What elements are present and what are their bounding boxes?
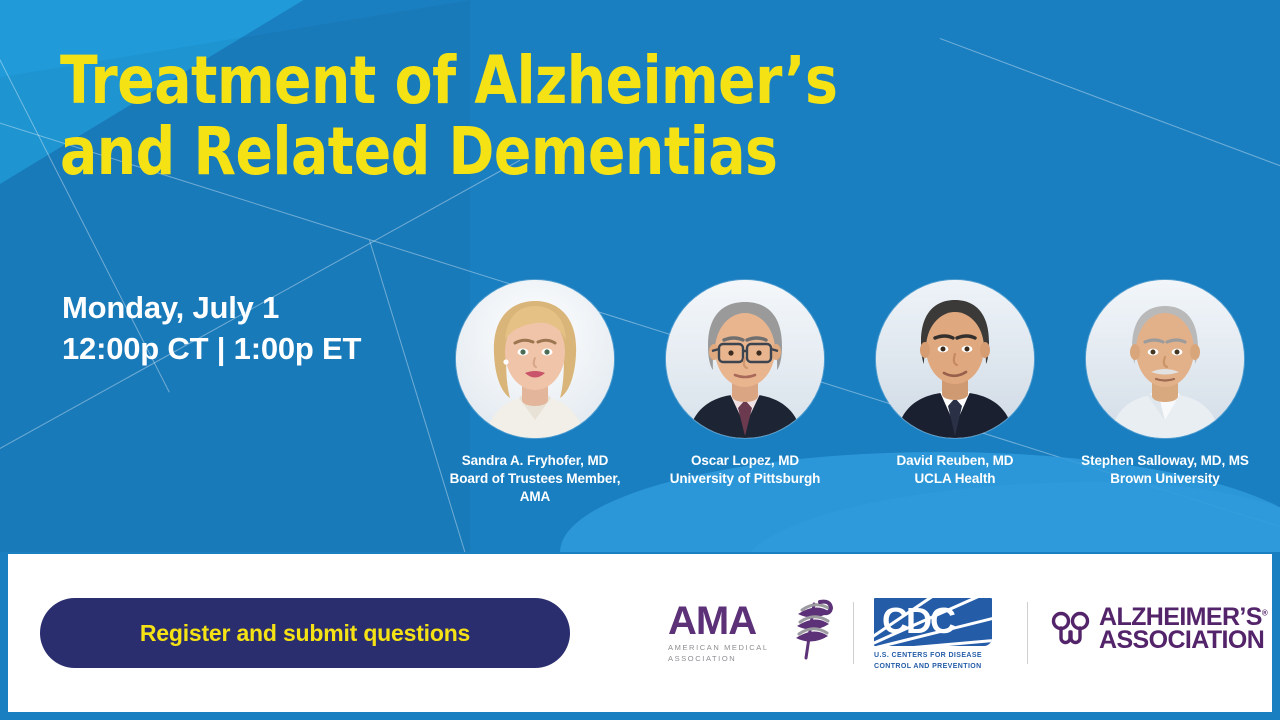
alzheimers-association-logo[interactable]: ALZHEIMER’S® ASSOCIATION xyxy=(1050,606,1268,652)
avatar xyxy=(1086,280,1244,438)
hero-banner: Treatment of Alzheimer’s and Related Dem… xyxy=(0,0,1280,552)
register-button-label: Register and submit questions xyxy=(140,620,470,647)
speaker-card: Stephen Salloway, MD, MS Brown Universit… xyxy=(1070,280,1260,488)
speaker-name: Stephen Salloway, MD, MS Brown Universit… xyxy=(1081,452,1249,488)
alzheimers-wordmark-line2: ASSOCIATION xyxy=(1099,629,1268,652)
portrait-sandra-fryhofer-icon xyxy=(456,280,614,438)
speaker-list: Sandra A. Fryhofer, MD Board of Trustees… xyxy=(440,280,1260,507)
logo-divider xyxy=(1027,602,1028,664)
register-button[interactable]: Register and submit questions xyxy=(40,598,570,668)
speaker-card: Sandra A. Fryhofer, MD Board of Trustees… xyxy=(440,280,630,507)
cdc-logo[interactable]: CDC U.S. CENTERS FOR DISEASE CONTROL AND… xyxy=(874,598,1019,670)
caduceus-staff-icon xyxy=(784,598,840,660)
portrait-oscar-lopez-icon xyxy=(666,280,824,438)
speaker-name: Sandra A. Fryhofer, MD Board of Trustees… xyxy=(440,452,630,507)
registered-mark: ® xyxy=(1262,609,1268,618)
cdc-rays-icon: CDC xyxy=(874,598,992,646)
page-title: Treatment of Alzheimer’s and Related Dem… xyxy=(60,45,944,188)
logo-divider xyxy=(853,602,854,664)
speaker-name: David Reuben, MD UCLA Health xyxy=(897,452,1014,488)
cdc-wordmark: CDC xyxy=(882,600,954,642)
avatar xyxy=(666,280,824,438)
footer-bar: Register and submit questions AMA AMERIC… xyxy=(8,554,1272,712)
speaker-name: Oscar Lopez, MD University of Pittsburgh xyxy=(670,452,821,488)
avatar xyxy=(456,280,614,438)
speaker-card: David Reuben, MD UCLA Health xyxy=(860,280,1050,488)
ama-logo[interactable]: AMA AMERICAN MEDICAL ASSOCIATION xyxy=(668,602,836,666)
decorative-hairline xyxy=(940,38,1280,179)
speaker-card: Oscar Lopez, MD University of Pittsburgh xyxy=(650,280,840,488)
cdc-subtitle: U.S. CENTERS FOR DISEASE CONTROL AND PRE… xyxy=(874,651,1019,672)
portrait-david-reuben-icon xyxy=(876,280,1034,438)
portrait-stephen-salloway-icon xyxy=(1086,280,1244,438)
event-datetime: Monday, July 1 12:00p CT | 1:00p ET xyxy=(62,288,361,370)
alzheimers-loops-icon xyxy=(1050,608,1092,650)
avatar xyxy=(876,280,1034,438)
